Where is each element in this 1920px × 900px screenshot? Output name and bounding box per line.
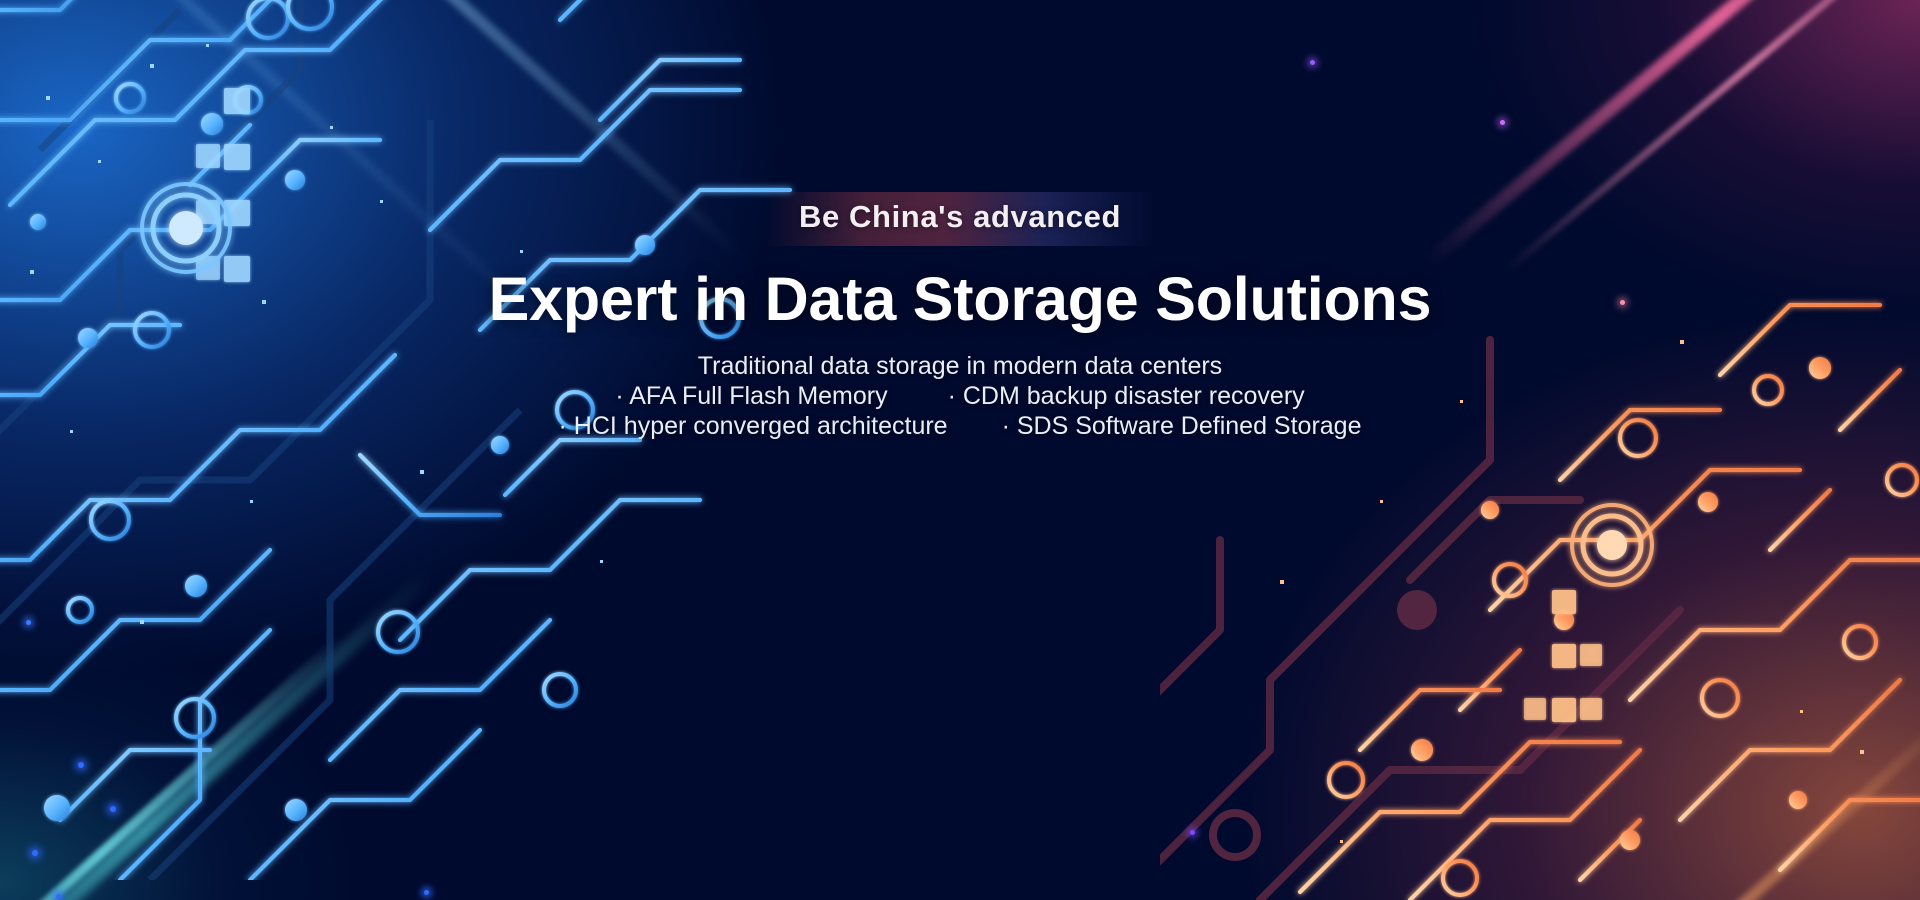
page-title: Expert in Data Storage Solutions bbox=[489, 264, 1432, 334]
eyebrow-text: Be China's advanced bbox=[799, 199, 1121, 235]
eyebrow-backdrop: Be China's advanced bbox=[765, 192, 1155, 246]
feature-item-cdm: · CDM backup disaster recovery bbox=[948, 382, 1305, 412]
feature-item-afa: · AFA Full Flash Memory bbox=[615, 382, 887, 412]
banner-content: Be China's advanced Expert in Data Stora… bbox=[0, 0, 1920, 900]
feature-item-sds: · SDS Software Defined Storage bbox=[1002, 412, 1362, 442]
tagline-text: Traditional data storage in modern data … bbox=[559, 352, 1362, 382]
feature-spacer bbox=[960, 412, 990, 442]
hero-banner: Be China's advanced Expert in Data Stora… bbox=[0, 0, 1920, 900]
feature-row-2: · HCI hyper converged architecture · SDS… bbox=[559, 412, 1362, 442]
subtitle-block: Traditional data storage in modern data … bbox=[559, 352, 1362, 441]
feature-spacer bbox=[900, 382, 936, 412]
feature-item-hci: · HCI hyper converged architecture bbox=[559, 412, 948, 442]
feature-row-1: · AFA Full Flash Memory · CDM backup dis… bbox=[559, 382, 1362, 412]
